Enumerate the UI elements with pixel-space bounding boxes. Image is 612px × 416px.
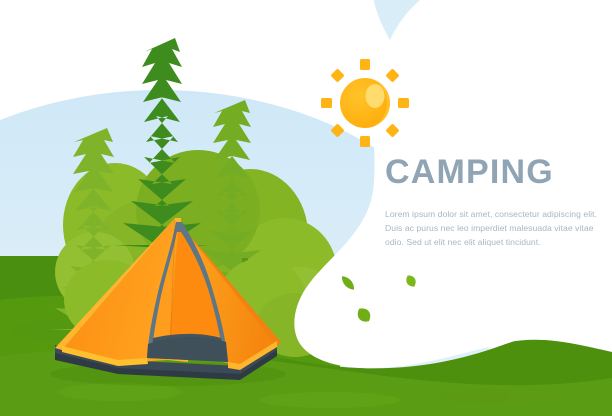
body-line-1: Lorem ipsum dolor sit amet, consectetur … — [385, 209, 597, 219]
body-line-3: Sed ut elit nec elit aliquet tincidunt. — [406, 237, 540, 247]
page-title: CAMPING — [385, 155, 600, 191]
body-paragraph: Lorem ipsum dolor sit amet, consectetur … — [385, 191, 600, 250]
floating-leaf-1 — [339, 274, 357, 292]
floating-leaf-3 — [354, 305, 373, 325]
camping-illustration: CAMPING Lorem ipsum dolor sit amet, cons… — [0, 0, 612, 416]
floating-leaf-2 — [404, 273, 418, 289]
text-block: CAMPING Lorem ipsum dolor sit amet, cons… — [385, 155, 600, 249]
